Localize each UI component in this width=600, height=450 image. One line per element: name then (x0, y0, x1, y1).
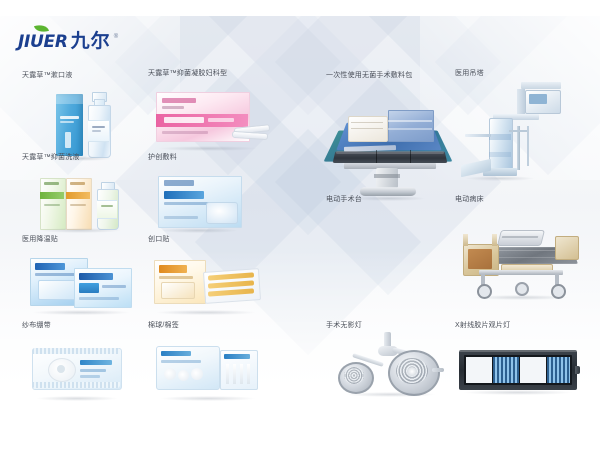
product-image-operating-table (326, 142, 456, 204)
shadow (352, 196, 426, 201)
product-cell-antibacterial-gel[interactable]: 天露草™抑菌凝胶妇科型 (148, 70, 278, 148)
product-image-hospital-bed (455, 220, 585, 308)
table-column-joint (374, 174, 400, 178)
product-image-surgical-lamp (326, 334, 456, 398)
product-label: 纱布绷带 (22, 322, 152, 330)
ceiling-mount (521, 82, 561, 89)
logo-text-cn: 九尔 (71, 32, 111, 51)
brand-logo: JIUER 九尔 ® (18, 32, 118, 51)
swab-stick (233, 364, 236, 384)
carton-front-accent (79, 283, 99, 293)
product-catalog-page: JIUER 九尔 ® 天露草™漱口液 天露草™抑菌凝胶妇科型 (0, 0, 600, 450)
product-image-xray-viewer (455, 346, 585, 406)
swab-stick (240, 364, 243, 384)
product-label: 创口贴 (148, 236, 278, 244)
bed-caster (515, 282, 529, 296)
carton-bottle-motif (65, 132, 71, 148)
viewer-frame-highlight (459, 350, 577, 352)
bed-footboard (555, 236, 579, 260)
gauze-stack (348, 116, 388, 142)
product-cell-xray-viewer[interactable]: X射线胶片观片灯 (455, 322, 595, 406)
pendant-cross-bar (509, 130, 529, 132)
pendant-column-band (489, 152, 511, 157)
drape-stack-right (388, 110, 434, 142)
product-image-gauze-bandage (22, 338, 142, 398)
product-cell-mouthwash[interactable]: 天露草™漱口液 (22, 72, 142, 158)
product-cell-adhesive-bandage[interactable]: 创口贴 (148, 236, 278, 312)
carton-sub-text (162, 106, 184, 109)
product-label: 手术无影灯 (326, 322, 466, 330)
table-column (376, 168, 398, 188)
product-label: 护创敷料 (148, 154, 268, 162)
product-image-cotton-products (148, 338, 268, 398)
carton-right-band (66, 192, 90, 199)
product-label: 一次性使用无菌手术敷料包 (326, 72, 466, 80)
shadow (158, 146, 258, 151)
viewer-panel-film (493, 357, 519, 383)
carton-text-line (208, 118, 234, 122)
pendant-head-screen (529, 94, 547, 104)
shadow (38, 228, 122, 233)
product-label: 医用降温贴 (22, 236, 152, 244)
bg-top-strip (0, 0, 600, 16)
viewer-side-knob (575, 366, 580, 374)
carton-text-line (70, 182, 85, 185)
gauze-texture (351, 128, 383, 129)
shadow (473, 295, 569, 300)
viewer-panel-film (547, 357, 570, 383)
swab-pack-label (224, 354, 250, 359)
carton-brand-text (162, 98, 196, 103)
shadow (160, 396, 256, 401)
carton-left-band (40, 192, 64, 199)
carton-back-sub (35, 273, 75, 276)
product-cell-operating-table[interactable]: 电动手术台 (326, 196, 466, 204)
carton-top-band (56, 94, 83, 104)
product-image-cooling-patch (22, 250, 142, 312)
product-label: 棉球/棉签 (148, 322, 278, 330)
product-cell-medical-pendant[interactable]: 医用吊塔 (455, 70, 585, 182)
gauze-pack-seal-top (32, 348, 120, 354)
bed-frame-beam (479, 270, 563, 275)
product-image-wound-dressing (148, 168, 258, 230)
shadow (32, 310, 130, 315)
bed-side-rail (497, 230, 545, 246)
viewer-panel-white (520, 357, 546, 383)
product-image-antibacterial-lotion (22, 168, 142, 230)
pendant-column (489, 118, 513, 172)
carton-back-photo (38, 280, 78, 300)
pendant-side-rail (465, 134, 491, 137)
swab-stick (247, 364, 250, 384)
product-label: 天露草™抑菌洗液 (22, 154, 152, 162)
drape-stack-right-fold (388, 120, 432, 122)
product-cell-cooling-patch[interactable]: 医用降温贴 (22, 236, 152, 312)
swab-stick (226, 364, 229, 384)
product-cell-antibacterial-lotion[interactable]: 天露草™抑菌洗液 (22, 154, 152, 230)
carton-title (159, 265, 187, 273)
product-image-medical-pendant (455, 82, 580, 182)
carton-back-title (35, 263, 65, 270)
product-label: 医用吊塔 (455, 70, 585, 78)
table-top-highlight (336, 151, 444, 154)
carton-footer-text (164, 216, 198, 219)
product-label: 电动病床 (455, 196, 595, 204)
carton-logo-row (164, 180, 194, 186)
product-label: 天露草™抑菌凝胶妇科型 (148, 70, 278, 78)
cotton-pack-left-text (161, 360, 201, 363)
carton-text-line (60, 116, 79, 119)
product-cell-cotton-products[interactable]: 棉球/棉签 (148, 322, 278, 398)
carton-footer-text (162, 131, 208, 134)
logo-text-en: JIUER (18, 34, 68, 51)
product-cell-wound-dressing[interactable]: 护创敷料 (148, 154, 268, 230)
viewer-panel-white (466, 357, 492, 383)
shadow (465, 176, 535, 181)
trademark-symbol: ® (114, 34, 118, 40)
carton-sub (159, 276, 193, 279)
table-top-segment-gap (376, 150, 377, 164)
carton-front-sub (102, 285, 126, 288)
gauze-pack-text (80, 375, 100, 378)
shadow (160, 228, 238, 233)
gauze-texture (351, 122, 383, 123)
product-label: X射线胶片观片灯 (455, 322, 595, 330)
pendant-iv-bar (527, 126, 529, 166)
product-image-mouthwash (22, 86, 142, 158)
product-image-antibacterial-gel (148, 86, 278, 148)
carton-text-line (164, 117, 204, 123)
pendant-vertical-pole (517, 126, 520, 170)
table-base (359, 188, 417, 197)
drape-stack-right-fold (388, 128, 432, 130)
bed-headboard-panel (468, 249, 492, 269)
shadow (346, 392, 436, 397)
shadow (36, 396, 118, 401)
carton-photo (161, 282, 195, 299)
carton-front-title (79, 273, 113, 280)
product-cell-gauze-bandage[interactable]: 纱布绷带 (22, 322, 152, 398)
gauze-pack-text (80, 369, 106, 372)
product-label: 天露草™漱口液 (22, 72, 142, 80)
table-top-segment-gap (410, 150, 411, 164)
carton-text-line (44, 182, 59, 185)
pendant-column-band (489, 134, 511, 140)
shadow (463, 390, 573, 395)
bed-headboard-post (492, 234, 497, 246)
carton-front-footer (79, 297, 119, 300)
bed-headboard-post (463, 234, 468, 246)
product-cell-hospital-bed[interactable]: 电动病床 (455, 196, 595, 308)
product-cell-surgical-lamp[interactable]: 手术无影灯 (326, 322, 466, 398)
bottle-label (97, 200, 117, 219)
cotton-pack-left-label (161, 351, 191, 356)
gauze-pack-label (80, 360, 112, 365)
carton-product-photo (206, 202, 238, 224)
carton-title (164, 191, 204, 199)
lamp-handle (432, 368, 444, 372)
gauze-pack-seal-bottom (32, 382, 120, 388)
shadow (156, 310, 256, 315)
product-image-adhesive-bandage (148, 250, 268, 312)
